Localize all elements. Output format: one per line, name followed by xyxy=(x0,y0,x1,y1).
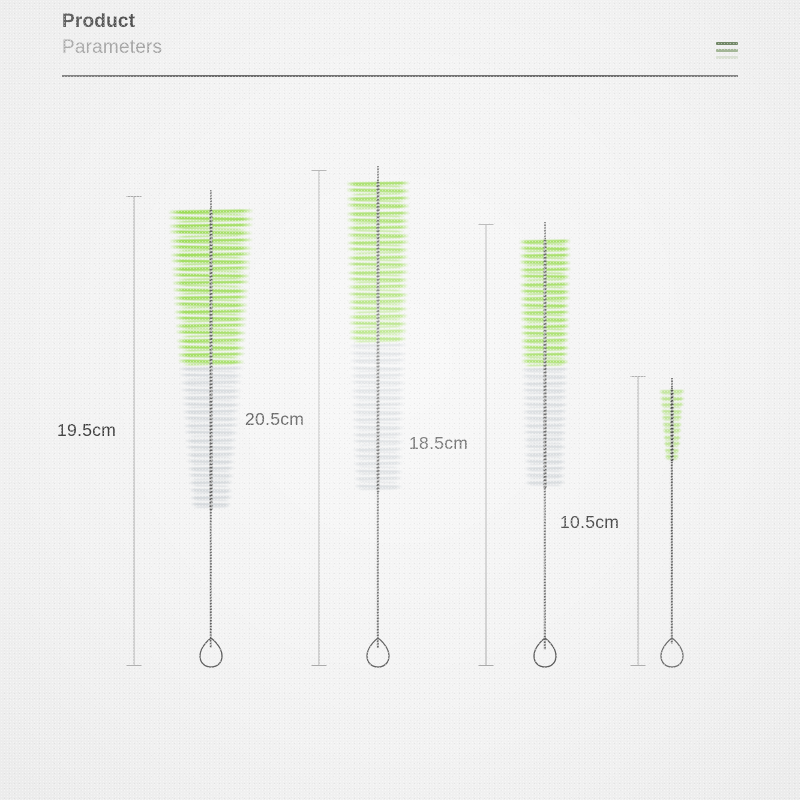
page-header: Product Parameters xyxy=(62,10,738,80)
dimension-vertical-line xyxy=(319,170,320,666)
brush-head xyxy=(518,240,572,488)
brush-1 xyxy=(167,190,255,668)
brush-hanging-loop xyxy=(532,637,558,668)
dimension-cap-bottom xyxy=(631,665,646,666)
brush-head-core-wire xyxy=(377,182,380,492)
brush-hanging-loop xyxy=(365,637,391,668)
brush-head xyxy=(167,210,255,510)
menu-bar-middle xyxy=(716,49,738,52)
page-subtitle: Parameters xyxy=(62,36,738,60)
product-illustration-stage: 19.5cm 20.5cm 18.5cm xyxy=(0,0,800,800)
page-title: Product xyxy=(62,10,738,33)
dimension-label-brush-2: 20.5cm xyxy=(245,409,304,430)
menu-bar-top xyxy=(716,42,738,45)
brush-3 xyxy=(518,222,572,668)
dimension-line-brush-4 xyxy=(630,376,646,666)
hamburger-menu-icon[interactable] xyxy=(716,42,738,59)
dimension-cap-bottom xyxy=(312,665,327,666)
brush-head-core-wire xyxy=(671,390,674,462)
dimension-line-brush-3 xyxy=(478,224,494,666)
dimension-label-brush-4: 10.5cm xyxy=(560,512,619,533)
dimension-label-brush-1: 19.5cm xyxy=(57,420,116,441)
dimension-line-brush-2 xyxy=(311,170,327,666)
dimension-label-brush-3: 18.5cm xyxy=(409,433,468,454)
menu-bar-bottom xyxy=(716,56,738,59)
header-divider xyxy=(62,75,738,77)
dimension-cap-bottom xyxy=(479,665,494,666)
dimension-vertical-line xyxy=(638,376,639,666)
dimension-cap-bottom xyxy=(127,665,142,666)
dimension-line-brush-1 xyxy=(126,196,142,666)
brush-hanging-loop xyxy=(198,637,224,668)
brush-head xyxy=(657,390,687,462)
brush-2 xyxy=(345,166,411,668)
brush-4 xyxy=(657,378,687,668)
dimension-vertical-line xyxy=(134,196,135,666)
dimension-vertical-line xyxy=(486,224,487,666)
brush-head-core-wire xyxy=(210,210,213,510)
brush-head-core-wire xyxy=(544,240,547,488)
brush-hanging-loop xyxy=(659,637,685,668)
brush-head xyxy=(345,182,411,492)
